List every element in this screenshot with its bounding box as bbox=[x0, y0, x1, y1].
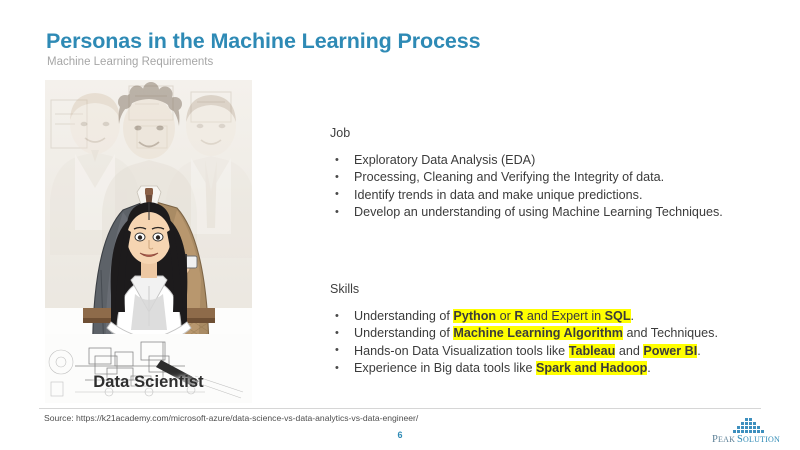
list-item: Hands-on Data Visualization tools like T… bbox=[333, 343, 795, 360]
slide-canvas: Personas in the Machine Learning Process… bbox=[0, 0, 800, 450]
highlighted-term: SQL bbox=[605, 309, 631, 323]
logo-artwork: PEAK SOLUTION bbox=[712, 417, 788, 444]
persona-caption: Data Scientist bbox=[45, 373, 252, 392]
job-bullet-list: Exploratory Data Analysis (EDA) Processi… bbox=[333, 152, 790, 222]
list-item: Processing, Cleaning and Verifying the I… bbox=[333, 169, 790, 186]
job-heading: Job bbox=[330, 126, 790, 140]
source-citation: Source: https://k21academy.com/microsoft… bbox=[44, 413, 418, 423]
footer-divider bbox=[39, 408, 761, 409]
highlighted-term: Python bbox=[453, 309, 496, 323]
logo-word-one: PEAK bbox=[712, 434, 735, 444]
highlighted-term: or bbox=[496, 309, 514, 323]
logo-word-two: SOLUTION bbox=[737, 434, 780, 444]
pyramid-squares-icon bbox=[733, 418, 764, 433]
skills-bullet-list: Understanding of Python or R and Expert … bbox=[333, 308, 795, 378]
highlighted-term: and Expert in bbox=[523, 309, 604, 323]
list-item: Experience in Big data tools like Spark … bbox=[333, 360, 795, 377]
page-subtitle: Machine Learning Requirements bbox=[47, 56, 213, 68]
highlighted-term: Tableau bbox=[569, 344, 616, 358]
skills-section: Skills Understanding of Python or R and … bbox=[330, 282, 795, 378]
page-title: Personas in the Machine Learning Process bbox=[46, 29, 481, 54]
highlighted-term: Power BI bbox=[643, 344, 697, 358]
page-number: 6 bbox=[0, 430, 800, 440]
list-item: Develop an understanding of using Machin… bbox=[333, 204, 790, 221]
job-section: Job Exploratory Data Analysis (EDA) Proc… bbox=[330, 126, 790, 222]
list-item: Understanding of Python or R and Expert … bbox=[333, 308, 795, 325]
illustration-artwork bbox=[45, 80, 252, 403]
data-scientist-illustration: Data Scientist bbox=[45, 80, 252, 403]
list-item: Understanding of Machine Learning Algori… bbox=[333, 325, 795, 342]
list-item: Exploratory Data Analysis (EDA) bbox=[333, 152, 790, 169]
list-item: Identify trends in data and make unique … bbox=[333, 187, 790, 204]
highlighted-term: Spark and Hadoop bbox=[536, 361, 647, 375]
peak-solution-logo: PEAK SOLUTION bbox=[712, 417, 788, 444]
skills-heading: Skills bbox=[330, 282, 795, 296]
highlighted-term: Machine Learning Algorithm bbox=[453, 326, 623, 340]
